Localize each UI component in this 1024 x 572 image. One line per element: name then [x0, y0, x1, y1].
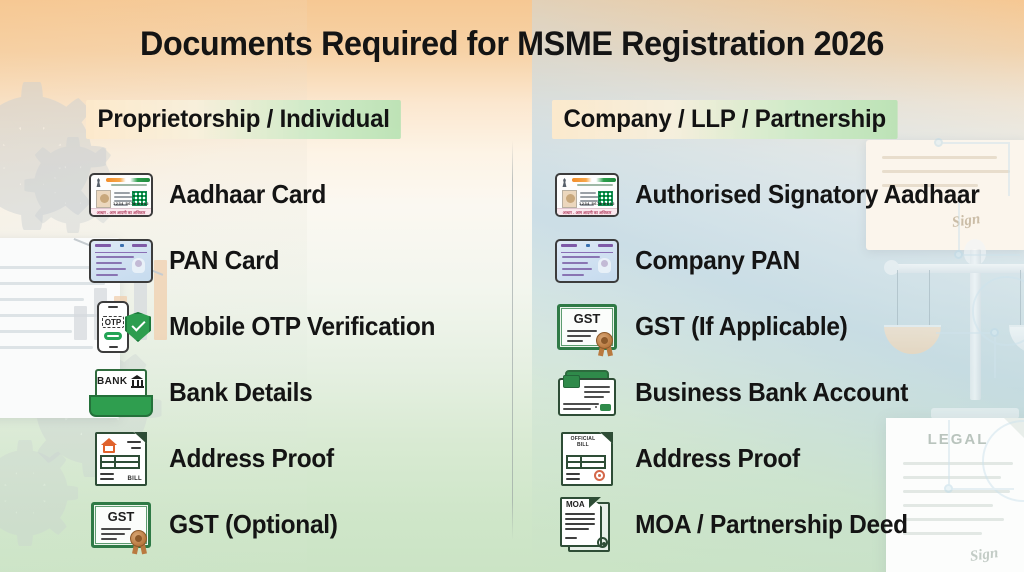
list-item-label: GST (Optional)	[156, 510, 338, 540]
emblem-mark	[95, 178, 102, 187]
list-item-label: Business Bank Account	[622, 378, 908, 408]
icon-slot: BANK	[86, 365, 156, 421]
list-item[interactable]: Business Bank Account	[552, 360, 1002, 426]
document-list-right: 1234 5678 9012 आधार - आम आदमी का अधिकार …	[552, 162, 1002, 558]
column-heading-left: Proprietorship / Individual	[86, 100, 401, 139]
icon-slot	[86, 233, 156, 289]
icon-slot: GST	[86, 497, 156, 553]
list-item[interactable]: GST GST (If Applicable)	[552, 294, 1002, 360]
bank-statement-icon	[558, 370, 616, 416]
gst-certificate-icon: GST	[91, 502, 151, 548]
bank-passbook-icon: BANK	[89, 369, 153, 417]
page-title: Documents Required for MSME Registration…	[26, 26, 999, 63]
list-item-label: GST (If Applicable)	[622, 312, 848, 342]
aadhaar-footer-text: आधार - आम आदमी का अधिकार	[91, 208, 151, 215]
bank-building-icon	[131, 375, 144, 388]
passbook-cover	[89, 395, 153, 417]
aadhaar-card-icon: 1234 5678 9012 आधार - आम आदमी का अधिकार	[89, 173, 153, 217]
icon-slot: GST	[552, 299, 622, 355]
list-item-label: Company PAN	[622, 246, 800, 276]
bill-label: BILL	[127, 476, 142, 482]
otp-code-box: OTP	[102, 316, 124, 328]
photo-thumbnail	[598, 258, 611, 273]
seal-icon	[130, 530, 147, 547]
column-divider	[512, 140, 513, 540]
bill-table	[566, 455, 606, 469]
column-company: Company / LLP / Partnership	[552, 100, 1002, 139]
emblem-mark	[561, 178, 568, 187]
mobile-otp-icon: OTP	[89, 301, 153, 353]
otp-input-pill	[104, 332, 122, 340]
list-item-label: Address Proof	[156, 444, 334, 474]
bill-document-icon: BILL	[95, 432, 147, 486]
photo-thumbnail	[96, 190, 111, 208]
statement-chip	[600, 404, 611, 411]
list-item-label: Bank Details	[156, 378, 312, 408]
seal-icon	[597, 537, 608, 548]
aadhaar-number: 1234 5678 9012	[579, 202, 615, 206]
list-item-label: PAN Card	[156, 246, 279, 276]
tricolor-stripe	[572, 178, 616, 182]
statement-logo-block	[563, 375, 580, 388]
aadhaar-number: 1234 5678 9012	[113, 202, 149, 206]
icon-slot: OFFICIAL BILL	[552, 431, 622, 487]
list-item-label: Address Proof	[622, 444, 800, 474]
tricolor-stripe	[106, 178, 150, 182]
list-item[interactable]: Company PAN	[552, 228, 1002, 294]
house-icon	[101, 438, 117, 453]
pan-card-icon	[89, 239, 153, 283]
column-proprietorship: Proprietorship / Individual	[86, 100, 506, 139]
icon-slot: OTP	[86, 299, 156, 355]
list-item[interactable]: BILL Address Proof	[86, 426, 506, 492]
bank-label: BANK	[97, 377, 128, 387]
icon-slot: 1234 5678 9012 आधार - आम आदमी का अधिकार	[552, 167, 622, 223]
list-item-label: Authorised Signatory Aadhaar	[622, 180, 979, 210]
stamp-icon	[594, 470, 605, 481]
official-bill-label: OFFICIAL BILL	[567, 436, 599, 449]
list-item-label: Aadhaar Card	[156, 180, 326, 210]
seal-icon	[596, 332, 613, 349]
icon-slot	[552, 233, 622, 289]
icon-slot: MOA	[552, 497, 622, 553]
gst-label: GST	[557, 312, 617, 325]
list-item[interactable]: OFFICIAL BILL Address Proof	[552, 426, 1002, 492]
list-item[interactable]: GST GST (Optional)	[86, 492, 506, 558]
icon-slot	[552, 365, 622, 421]
moa-document-icon: MOA	[560, 497, 614, 553]
list-item-label: Mobile OTP Verification	[156, 312, 435, 342]
aadhaar-footer-text: आधार - आम आदमी का अधिकार	[557, 208, 617, 215]
gst-label: GST	[91, 510, 151, 523]
list-item-label: MOA / Partnership Deed	[622, 510, 908, 540]
document-list-left: 1234 5678 9012 आधार - आम आदमी का अधिकार …	[86, 162, 506, 558]
bill-table	[100, 455, 140, 469]
photo-thumbnail	[132, 258, 145, 273]
list-item[interactable]: PAN Card	[86, 228, 506, 294]
aadhaar-card-icon: 1234 5678 9012 आधार - आम आदमी का अधिकार	[555, 173, 619, 217]
moa-label: MOA	[566, 501, 585, 509]
list-item[interactable]: BANK Bank Details	[86, 360, 506, 426]
photo-thumbnail	[562, 190, 577, 208]
foreground-content: Documents Required for MSME Registration…	[0, 0, 1024, 572]
gst-certificate-icon: GST	[557, 304, 617, 350]
official-bill-icon: OFFICIAL BILL	[561, 432, 613, 486]
list-item[interactable]: 1234 5678 9012 आधार - आम आदमी का अधिकार …	[552, 162, 1002, 228]
pan-card-icon	[555, 239, 619, 283]
infographic-canvas: Sign LEGAL Sign	[0, 0, 1024, 572]
list-item[interactable]: MOA MOA / Partnership Deed	[552, 492, 1002, 558]
page-corner-fold	[600, 432, 613, 444]
icon-slot: BILL	[86, 431, 156, 487]
list-item[interactable]: 1234 5678 9012 आधार - आम आदमी का अधिकार …	[86, 162, 506, 228]
list-item[interactable]: OTP Mobile OTP Verification	[86, 294, 506, 360]
page-corner-fold	[589, 497, 601, 508]
icon-slot: 1234 5678 9012 आधार - आम आदमी का अधिकार	[86, 167, 156, 223]
column-heading-right: Company / LLP / Partnership	[552, 100, 897, 139]
